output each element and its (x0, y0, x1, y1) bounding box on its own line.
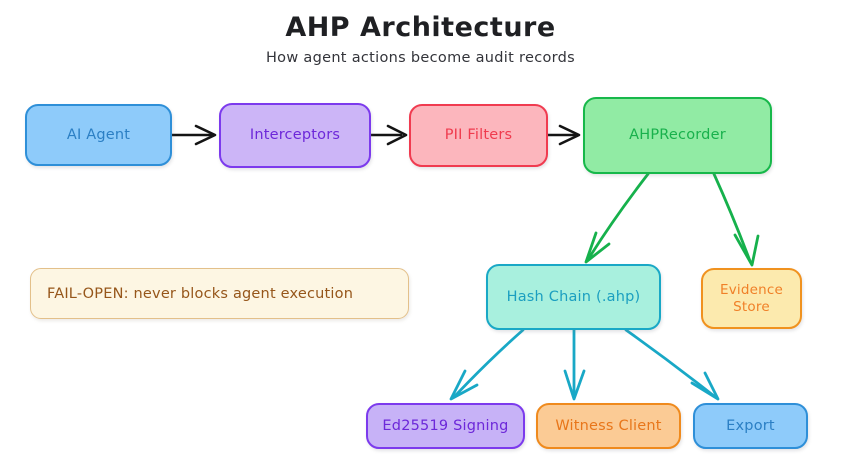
node-ahprecorder[interactable]: AHPRecorder (583, 97, 772, 174)
node-pii-filters-label: PII Filters (445, 126, 513, 144)
node-export[interactable]: Export (693, 403, 808, 449)
edge-hash-chain-to-export (626, 330, 718, 399)
note-fail-open-label: FAIL-OPEN: never blocks agent execution (47, 286, 353, 302)
node-export-label: Export (726, 417, 775, 435)
edge-interceptors-to-pii-filters (371, 126, 406, 144)
edge-hash-chain-to-ed25519 (451, 330, 523, 399)
page-title: AHP Architecture (0, 12, 841, 43)
node-ed25519-signing[interactable]: Ed25519 Signing (366, 403, 525, 449)
edge-ahprecorder-to-hash-chain (586, 174, 648, 262)
node-hash-chain[interactable]: Hash Chain (.ahp) (486, 264, 661, 330)
edge-ai-agent-to-interceptors (172, 126, 215, 144)
node-pii-filters[interactable]: PII Filters (409, 104, 548, 167)
node-ahprecorder-label: AHPRecorder (629, 126, 726, 144)
diagram-canvas: AHP Architecture How agent actions becom… (0, 0, 841, 474)
node-ai-agent[interactable]: AI Agent (25, 104, 172, 166)
node-evidence-store-label: Evidence Store (720, 282, 783, 316)
edge-ahprecorder-to-evidence (714, 174, 758, 265)
node-interceptors-label: Interceptors (250, 126, 340, 144)
node-evidence-store[interactable]: Evidence Store (701, 268, 802, 329)
edge-hash-chain-to-witness (565, 330, 584, 399)
node-witness-client-label: Witness Client (555, 417, 661, 435)
node-ed25519-signing-label: Ed25519 Signing (382, 417, 508, 435)
node-witness-client[interactable]: Witness Client (536, 403, 681, 449)
node-hash-chain-label: Hash Chain (.ahp) (507, 288, 641, 306)
node-ai-agent-label: AI Agent (67, 126, 130, 144)
note-fail-open: FAIL-OPEN: never blocks agent execution (30, 268, 409, 319)
edge-pii-filters-to-ahprecorder (548, 126, 579, 144)
page-subtitle: How agent actions become audit records (0, 50, 841, 66)
node-interceptors[interactable]: Interceptors (219, 103, 371, 168)
